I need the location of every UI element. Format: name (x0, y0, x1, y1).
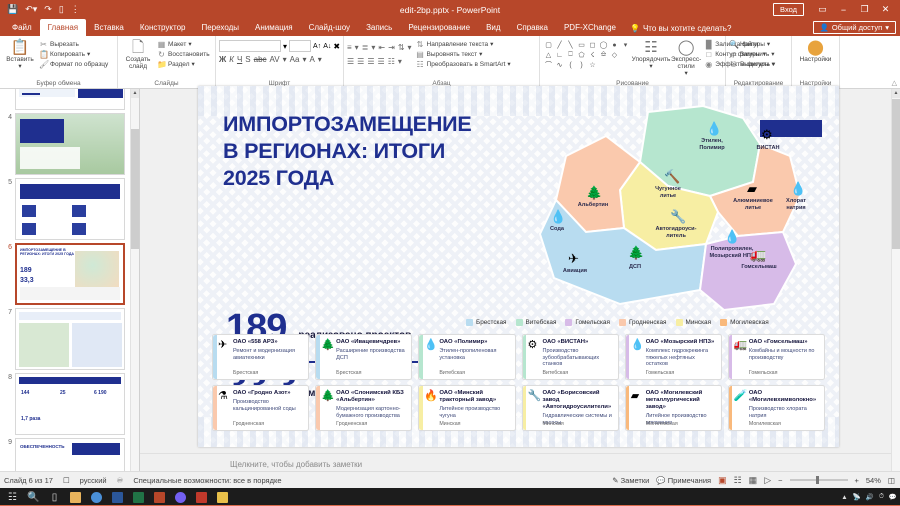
language-label[interactable]: русский (80, 476, 107, 485)
tab-transitions[interactable]: Переходы (193, 19, 247, 36)
quick-styles-icon: ◯ (678, 40, 695, 56)
ribbon-group-editing: 🔍 Найти ⇄ Заменить ▾ ⎋ Выделить ▾ Реда (726, 36, 792, 88)
increase-indent-icon[interactable]: ⇥ (388, 43, 395, 52)
chevron-down-icon: ▾ (885, 23, 889, 32)
font-color-button[interactable]: A (309, 55, 314, 64)
chevron-down-icon: ▾ (87, 50, 90, 59)
share-icon: 👤 (820, 23, 829, 32)
shape-flow-icon[interactable]: ⎕ (568, 51, 572, 59)
shape-arc-icon[interactable]: ⌒ (545, 60, 552, 70)
project-cards: ✈ ОАО «558 АРЗ» Ремонт и модернизация ав… (212, 334, 825, 431)
beaker-icon: 💧 (550, 210, 566, 223)
card-stripe (213, 335, 217, 379)
harvester-icon: 🚛 (734, 340, 748, 351)
reset-button[interactable]: ↻ Восстановить (157, 50, 210, 59)
minimize-button[interactable]: − (833, 0, 854, 19)
pour-icon: 🔨 (664, 170, 680, 183)
thumbnail-image: 144 25 6 190 1,7 раза (15, 373, 125, 435)
legend-item-brest: Брестская (466, 319, 507, 326)
project-card[interactable]: 🧪 ОАО «Могилевхимволокно» Производство х… (728, 385, 825, 431)
smartart-icon: ☷ (416, 60, 425, 69)
legend-label: Минская (686, 319, 712, 326)
project-card[interactable]: 💧 ОАО «Полимир» Этилен-пропиленовая уста… (418, 334, 515, 380)
undo-icon[interactable]: ↶▾ (25, 5, 37, 14)
scrollbar-thumb[interactable] (892, 99, 900, 249)
legend-swatch (676, 319, 683, 326)
restore-button[interactable]: ❐ (854, 0, 875, 19)
project-card[interactable]: 🚛 ОАО «Гомсельмаш» Комбайны и мощности п… (728, 334, 825, 380)
character-spacing-button[interactable]: AV (270, 55, 280, 64)
select-icon: ⎋ (729, 60, 738, 69)
chevron-down-icon[interactable]: ▾ (408, 43, 412, 52)
shape-arrow-icon[interactable]: ╲ (568, 41, 572, 49)
bullets-icon[interactable]: ≡ (347, 43, 352, 52)
quick-styles-button[interactable]: ◯ Экспресс-стили ▾ (671, 38, 701, 77)
tell-me-box[interactable]: 💡 Что вы хотите сделать? (624, 21, 737, 36)
tab-home[interactable]: Главная (40, 19, 86, 36)
flask-icon: 💧 (790, 182, 806, 195)
share-button[interactable]: 👤 Общий доступ ▾ (813, 21, 897, 34)
shape-star-icon[interactable]: ☆ (589, 61, 595, 69)
legend-swatch (619, 319, 626, 326)
replace-icon: ⇄ (729, 50, 738, 59)
card-name: ОАО «Полимир» (439, 339, 510, 346)
beaker-icon: ⚗ (218, 391, 228, 402)
droplet-icon: 💧 (724, 230, 740, 243)
map-label-albertin: Альбертин (560, 202, 626, 209)
shape-diamond-icon[interactable]: ◇ (612, 51, 617, 59)
project-card[interactable]: 🔥 ОАО «Минский тракторный завод» Литейно… (418, 385, 515, 431)
line-spacing-icon[interactable]: ⇅ (398, 43, 405, 52)
chevron-down-icon[interactable]: ▾ (283, 55, 287, 64)
slide-title[interactable]: ИМПОРТОЗАМЕЩЕНИЕ В РЕГИОНАХ: ИТОГИ 2025 … (223, 111, 543, 192)
card-stripe (729, 386, 733, 430)
thumbnail-scrollbar[interactable]: ▲ ▼ (130, 89, 139, 489)
zoom-out-button[interactable]: − (778, 476, 782, 485)
thumbnail-image (15, 178, 125, 240)
legend-label: Витебская (526, 319, 557, 326)
slide-thumbnail-5[interactable]: 5 (0, 175, 139, 240)
card-region: Могилевская (749, 421, 781, 427)
underline-button[interactable]: Ч (237, 55, 242, 64)
font-size-input[interactable] (289, 40, 311, 52)
card-name: ОАО «Могилевхимволокно» (749, 390, 820, 404)
align-text-icon: ▤ (416, 50, 425, 59)
tab-record[interactable]: Запись (358, 19, 400, 36)
legend-item-grodno: Гродненская (619, 319, 667, 326)
chevron-down-icon[interactable]: ▾ (318, 55, 322, 64)
close-button[interactable]: ✕ (875, 0, 896, 19)
accessibility-status[interactable]: Специальные возможности: все в порядке (133, 476, 281, 485)
card-region: Гомельская (646, 370, 675, 376)
project-card[interactable]: ▰ ОАО «Могилевский металлургический заво… (625, 385, 722, 431)
slide-counter: Слайд 6 из 17 (4, 476, 53, 485)
legend-swatch (516, 319, 523, 326)
quick-access-toolbar[interactable]: 💾 ↶▾ ↷ ▯ ⋮ (0, 5, 80, 14)
ribbon-group-slides: 🗋 Создать слайд ▦ Макет ▾ ↻ Восстановить… (118, 36, 216, 88)
clear-formatting-icon[interactable]: ✖ (333, 42, 340, 51)
accessibility-icon: ♾ (117, 476, 124, 485)
slide-thumbnail-pane[interactable]: 3 4 5 (0, 89, 140, 489)
card-region: Минская (543, 421, 564, 427)
legend-label: Гродненская (629, 319, 667, 326)
tab-view[interactable]: Вид (478, 19, 508, 36)
fit-to-window-icon[interactable]: ◫ (888, 476, 895, 485)
pdf-icon[interactable] (191, 488, 212, 506)
tell-me-label: Что вы хотите сделать? (643, 24, 731, 33)
clipboard-icon: 📋 (11, 40, 30, 56)
italic-button[interactable]: К (229, 55, 234, 64)
window-controls: Вход ▭ − ❐ ✕ (773, 0, 896, 19)
gear-icon: ⚙ (528, 340, 538, 351)
accessibility-checker-icon[interactable]: ☐ (63, 476, 70, 485)
shape-line-icon[interactable]: ╱ (557, 41, 561, 49)
map-legend: Брестская Витебская Гомельская Гродненск… (466, 319, 769, 326)
arrange-icon: ☷ (644, 40, 657, 56)
powerpoint-window: 💾 ↶▾ ↷ ▯ ⋮ edit-2bp.pptx - PowerPoint Вх… (0, 0, 900, 506)
zoom-slider[interactable] (790, 479, 848, 481)
card-name: ОАО «Могилевский металлургический завод» (646, 390, 717, 411)
word-icon[interactable] (107, 488, 128, 506)
slide-thumbnail-4[interactable]: 4 (0, 110, 139, 175)
clock[interactable]: ⏱ (879, 493, 884, 501)
slide-thumbnail-6[interactable]: 6 ИМПОРТОЗАМЕЩЕНИЕ В РЕГИОНАХ: ИТОГИ 202… (0, 240, 139, 305)
project-card[interactable]: 💧 ОАО «Мозырский НПЗ» Комплекс гидрокрек… (625, 334, 722, 380)
replace-button[interactable]: ⇄ Заменить ▾ (729, 50, 775, 59)
belarus-region-map[interactable]: 💧 Этилен, Полимир ⚙ ВИСТАН 🔨 Чугунное ли… (528, 104, 828, 319)
ribbon-group-font: ▾ A↑ A↓ ✖ Ж К Ч S abc AV ▾ Aa ▾ A (216, 36, 344, 88)
card-stripe (316, 335, 320, 379)
save-icon[interactable]: 💾 (7, 5, 18, 14)
project-card[interactable]: ⚙ ОАО «ВИСТАН» Производство зубообрабаты… (522, 334, 619, 380)
layout-button[interactable]: ▦ Макет ▾ (157, 40, 210, 49)
change-case-button[interactable]: Aa (290, 55, 300, 64)
shape-circle-icon[interactable]: ● (612, 42, 616, 49)
shape-banner-icon[interactable]: ⎒ (601, 51, 607, 59)
zoom-slider-handle[interactable] (816, 476, 819, 484)
group-label-clipboard: Буфер обмена (0, 80, 117, 88)
project-card[interactable]: 🌲 ОАО «Слонимский КБЗ «Альбертин» Модерн… (315, 385, 412, 431)
shape-outline-icon: □ (704, 50, 713, 59)
chevron-down-icon[interactable]: ▾ (302, 55, 306, 64)
chevron-down-icon[interactable]: ▾ (398, 57, 402, 66)
shape-rect-icon[interactable]: ▭ (578, 41, 585, 49)
text-direction-button[interactable]: ⇅ Направление текста ▾ (416, 40, 511, 49)
folder-icon[interactable] (212, 488, 233, 506)
view-slideshow-button[interactable]: ▷ (764, 475, 771, 486)
tab-file[interactable]: Файл (4, 19, 40, 36)
chevron-down-icon: ▾ (649, 63, 652, 70)
card-stripe (419, 386, 423, 430)
format-painter-icon: 🖌 (39, 60, 48, 69)
notes-icon: ✎ (612, 476, 618, 485)
card-region: Могилевская (646, 421, 678, 427)
card-description: Производство хлората натрия (749, 406, 820, 419)
ribbon-display-options-icon[interactable]: ▭ (812, 0, 833, 19)
gear-icon: ⚙ (761, 128, 773, 141)
card-row-2: ⚗ ОАО «Гродно Азот» Производство кальцин… (212, 385, 825, 431)
volume-icon[interactable]: 🔊 (866, 493, 874, 501)
shape-oval-icon[interactable]: ◯ (600, 41, 608, 49)
card-description: Ремонт и модернизация авиатехники (233, 348, 304, 361)
bold-button[interactable]: Ж (219, 55, 226, 64)
collapse-ribbon-icon[interactable]: △ (892, 79, 897, 87)
notifications-icon[interactable]: 💬 (889, 493, 897, 501)
card-stripe (729, 335, 733, 379)
paste-label: Вставить (6, 56, 34, 63)
section-icon: 📁 (157, 60, 166, 69)
tab-help[interactable]: Справка (509, 19, 556, 36)
plane-icon: ✈ (568, 252, 579, 265)
card-description: Производство кальцинированной соды (233, 399, 304, 412)
reset-icon: ↻ (157, 50, 166, 59)
tree-board-icon: 🌲 (321, 340, 335, 351)
card-region: Витебская (439, 370, 465, 376)
notes-placeholder: Щелкните, чтобы добавить заметки (230, 460, 362, 469)
shape-angle-icon[interactable]: ∟ (556, 52, 563, 59)
text-direction-icon: ⇅ (416, 40, 425, 49)
cut-button[interactable]: ✂ Вырезать (39, 40, 108, 49)
plane-icon: ✈ (218, 340, 227, 351)
legend-item-vitebsk: Витебская (516, 319, 557, 326)
decrease-font-icon[interactable]: A↓ (323, 43, 331, 50)
card-stripe (316, 386, 320, 430)
shape-chevron-icon[interactable]: ☇ (590, 51, 594, 59)
tab-review[interactable]: Рецензирование (400, 19, 478, 36)
map-label-soda: Сода (528, 226, 586, 233)
new-slide-label: Создать слайд (121, 56, 155, 70)
card-name: ОАО «Гомсельмаш» (749, 339, 820, 346)
search-icon: 🔍 (729, 40, 738, 49)
comments-button[interactable]: 💬 Примечания (656, 476, 711, 485)
taskbar: ☷ 🔍 ▯ ▲ 📡 🔊 ⏱ (0, 488, 900, 506)
card-description: Комбайны и мощности по производству (749, 348, 820, 361)
slide-thumbnail-3[interactable]: 3 (0, 89, 139, 110)
shape-curve-icon[interactable]: ∿ (557, 61, 563, 69)
shapes-gallery[interactable]: ▢ ╱ ╲ ▭ ◻ ◯ ● ▾ △ ∟ ⎕ ⬠ ☇ ⎒ ◇ ⌒ (543, 38, 631, 70)
tray-expand-icon[interactable]: ▲ (841, 494, 847, 501)
tab-animations[interactable]: Анимация (247, 19, 301, 36)
scissors-icon: ✂ (39, 40, 48, 49)
tab-pdf-xchange[interactable]: PDF-XChange (556, 19, 624, 36)
customize-qat-icon[interactable]: ⋮ (71, 5, 80, 14)
project-card[interactable]: ⚗ ОАО «Гродно Азот» Производство кальцин… (212, 385, 309, 431)
card-region: Минская (439, 421, 460, 427)
copy-button[interactable]: 📋 Копировать ▾ (39, 50, 108, 59)
network-icon[interactable]: 📡 (853, 493, 861, 501)
paper-roll-icon: 🌲 (321, 391, 335, 402)
select-button[interactable]: ⎋ Выделить ▾ (729, 60, 775, 69)
search-icon[interactable]: 🔍 (23, 488, 44, 506)
title-bar: 💾 ↶▾ ↷ ▯ ⋮ edit-2bp.pptx - PowerPoint Вх… (0, 0, 900, 19)
legend-item-gomel: Гомельская (565, 319, 610, 326)
start-button-icon[interactable]: ☷ (2, 488, 23, 506)
region-gomel (700, 232, 796, 310)
columns-icon[interactable]: ☷ (388, 57, 395, 66)
map-label-vistan: ВИСТАН (736, 145, 800, 152)
ribbon-group-clipboard: 📋 Вставить ▾ ✂ Вырезать 📋 Копировать ▾ (0, 36, 118, 88)
status-bar: Слайд 6 из 17 ☐ русский ♾ Специальные во… (0, 471, 900, 488)
thumbnail-image (15, 89, 125, 110)
chevron-down-icon[interactable]: ▾ (371, 43, 375, 52)
thumbnail-image (15, 308, 125, 370)
paper-roll-icon: 🌲 (586, 186, 602, 199)
task-view-icon[interactable]: ▯ (44, 488, 65, 506)
title-line-1: ИМПОРТОЗАМЕЩЕНИЕ (223, 111, 543, 138)
excel-icon[interactable] (128, 488, 149, 506)
card-description: Расширение производства ДСП (336, 348, 407, 361)
tab-design[interactable]: Конструктор (132, 19, 194, 36)
shape-brace-open-icon[interactable]: ( (569, 62, 571, 69)
comment-icon: 💬 (656, 476, 665, 485)
align-center-icon[interactable]: ☰ (357, 57, 364, 66)
chevron-down-icon: ▾ (685, 70, 688, 77)
chevron-down-icon: ▾ (772, 60, 775, 69)
status-bar-right: ✎ Заметки 💬 Примечания ▣ ☷ ▦ ▷ − + 54% ◫ (612, 475, 895, 486)
card-description: Литейное производство чугуна (439, 406, 510, 419)
legend-label: Гомельская (575, 319, 610, 326)
font-name-input[interactable] (219, 40, 281, 52)
legend-item-minsk: Минская (676, 319, 712, 326)
scroll-up-icon[interactable]: ▲ (892, 89, 900, 98)
shape-rounded-icon[interactable]: ◻ (590, 41, 596, 49)
card-name: ОАО «Борисовский завод «Автогидроусилите… (543, 390, 614, 411)
strikethrough-button[interactable]: abc (254, 55, 267, 64)
project-card[interactable]: ✈ ОАО «558 АРЗ» Ремонт и модернизация ав… (212, 334, 309, 380)
slide-thumbnail-8[interactable]: 8 144 25 6 190 1,7 раза (0, 370, 139, 435)
paste-button[interactable]: 📋 Вставить ▾ (3, 38, 37, 70)
slide-thumbnail-7[interactable]: 7 (0, 305, 139, 370)
chevron-down-icon[interactable]: ▾ (283, 42, 287, 51)
start-slideshow-icon[interactable]: ▯ (59, 5, 64, 14)
canvas-scrollbar[interactable]: ▲ ▼ (891, 89, 900, 489)
shadow-button[interactable]: S (245, 55, 250, 64)
sign-in-button[interactable]: Вход (773, 3, 804, 16)
shape-effects-icon: ◉ (704, 60, 713, 69)
view-reading-button[interactable]: ▦ (749, 475, 758, 486)
thumbnail-image (15, 113, 125, 175)
powerpoint-taskbar-icon[interactable] (149, 488, 170, 506)
card-region: Гродненская (336, 421, 367, 427)
droplet-icon: 💧 (706, 122, 722, 135)
ribbon-group-drawing: ▢ ╱ ╲ ▭ ◻ ◯ ● ▾ △ ∟ ⎕ ⬠ ☇ ⎒ ◇ ⌒ (540, 36, 726, 88)
chevron-down-icon: ▾ (479, 50, 482, 59)
chevron-down-icon: ▾ (191, 60, 194, 69)
flask-icon: 🧪 (734, 391, 748, 402)
new-slide-icon: 🗋 (132, 40, 144, 56)
format-painter-button[interactable]: 🖌 Формат по образцу (39, 60, 108, 69)
zoom-in-button[interactable]: + (855, 476, 859, 485)
legend-item-mogilev: Могилевская (720, 319, 769, 326)
align-left-icon[interactable]: ☰ (347, 57, 354, 66)
increase-font-icon[interactable]: A↑ (313, 43, 321, 50)
share-label: Общий доступ (832, 23, 882, 32)
card-name: ОАО «Ивацевичдрев» (336, 339, 407, 346)
justify-icon[interactable]: ☰ (378, 57, 385, 66)
card-name: ОАО «ВИСТАН» (543, 339, 614, 346)
droplet-icon: 💧 (424, 340, 438, 351)
section-button[interactable]: 📁 Раздел ▾ (157, 60, 210, 69)
legend-swatch (466, 319, 473, 326)
chevron-down-icon: ▾ (507, 60, 510, 69)
slide-editing-surface[interactable]: ИМПОРТОЗАМЕЩЕНИЕ В РЕГИОНАХ: ИТОГИ 2025 … (198, 86, 839, 447)
card-name: ОАО «558 АРЗ» (233, 339, 304, 346)
scroll-up-icon[interactable]: ▲ (131, 89, 139, 98)
align-text-button[interactable]: ▤ Выровнять текст ▾ (416, 50, 511, 59)
align-right-icon[interactable]: ☰ (367, 57, 374, 66)
thumbnail-image-selected: ИМПОРТОЗАМЕЩЕНИЕ В РЕГИОНАХ: ИТОГИ 2025 … (15, 243, 125, 305)
card-row-1: ✈ ОАО «558 АРЗ» Ремонт и модернизация ав… (212, 334, 825, 380)
copy-icon: 📋 (39, 50, 48, 59)
find-button[interactable]: 🔍 Найти (729, 40, 775, 49)
browser-icon[interactable] (86, 488, 107, 506)
card-region: Брестская (336, 370, 361, 376)
shape-brace-close-icon[interactable]: ) (580, 62, 582, 69)
card-description: Производство зубообрабатывающих станков (543, 348, 614, 368)
numbering-icon[interactable]: ≣ (362, 43, 369, 52)
convert-smartart-button[interactable]: ☷ Преобразовать в SmartArt ▾ (416, 60, 511, 69)
ribbon-group-paragraph: ≡▾ ≣▾ ⇤ ⇥ ⇅▾ ☰ ☰ ☰ ☰ ☷▾ (344, 36, 540, 88)
ribbon: 📋 Вставить ▾ ✂ Вырезать 📋 Копировать ▾ (0, 36, 900, 89)
pour-icon: 🔥 (424, 391, 438, 402)
droplet-icon: 💧 (631, 340, 645, 351)
title-line-3: 2025 ГОДА (223, 165, 543, 192)
valve-icon: 🔧 (528, 391, 542, 402)
ribbon-group-addins: ⬤ Настройки Настройки (792, 36, 840, 88)
project-card[interactable]: 🔧 ОАО «Борисовский завод «Автогидроусили… (522, 385, 619, 431)
decrease-indent-icon[interactable]: ⇤ (378, 43, 385, 52)
legend-label: Брестская (476, 319, 507, 326)
chevron-down-icon[interactable]: ▾ (355, 43, 359, 52)
viber-icon[interactable] (170, 488, 191, 506)
new-slide-button[interactable]: 🗋 Создать слайд (121, 38, 155, 70)
harvester-icon: 🚛 (750, 248, 766, 261)
card-region: Витебская (543, 370, 569, 376)
addins-button[interactable]: ⬤ Настройки (799, 38, 833, 63)
notes-button[interactable]: ✎ Заметки (612, 476, 649, 485)
redo-icon[interactable]: ↷ (44, 5, 52, 14)
card-region: Гомельская (749, 370, 778, 376)
zoom-level[interactable]: 54% (866, 476, 881, 485)
ingot-icon: ▰ (747, 182, 757, 195)
scrollbar-thumb[interactable] (131, 129, 140, 249)
shape-pentagon-icon[interactable]: ⬠ (578, 51, 584, 59)
card-stripe (626, 386, 630, 430)
project-card[interactable]: 🌲 ОАО «Ивацевичдрев» Расширение производ… (315, 334, 412, 380)
card-description: Комплекс гидрокрекинга тяжелых нефтяных … (646, 348, 717, 368)
shape-more-icon[interactable]: ▾ (624, 41, 628, 49)
card-stripe (626, 335, 630, 379)
map-label-iron: Чугунное литье (636, 186, 700, 199)
card-region: Брестская (233, 370, 258, 376)
view-sorter-button[interactable]: ☷ (734, 475, 742, 486)
explorer-icon[interactable] (65, 488, 86, 506)
window-title: edit-2bp.pptx - PowerPoint (0, 5, 900, 15)
card-description: Модернизация картонно-бумажного производ… (336, 406, 407, 419)
shape-textbox-icon[interactable]: ▢ (545, 41, 552, 49)
shape-triangle-icon[interactable]: △ (546, 51, 551, 59)
card-region: Гродненская (233, 421, 264, 427)
view-normal-button[interactable]: ▣ (718, 475, 727, 486)
card-stripe (523, 335, 527, 379)
arrange-button[interactable]: ☷ Упорядочить ▾ (634, 38, 668, 70)
tab-slideshow[interactable]: Слайд-шоу (301, 19, 358, 36)
card-stripe (419, 335, 423, 379)
card-stripe (213, 386, 217, 430)
main-area: 3 4 5 (0, 89, 900, 489)
tab-insert[interactable]: Вставка (86, 19, 132, 36)
map-label-hydro: Автогидроуси- литель (640, 226, 712, 239)
